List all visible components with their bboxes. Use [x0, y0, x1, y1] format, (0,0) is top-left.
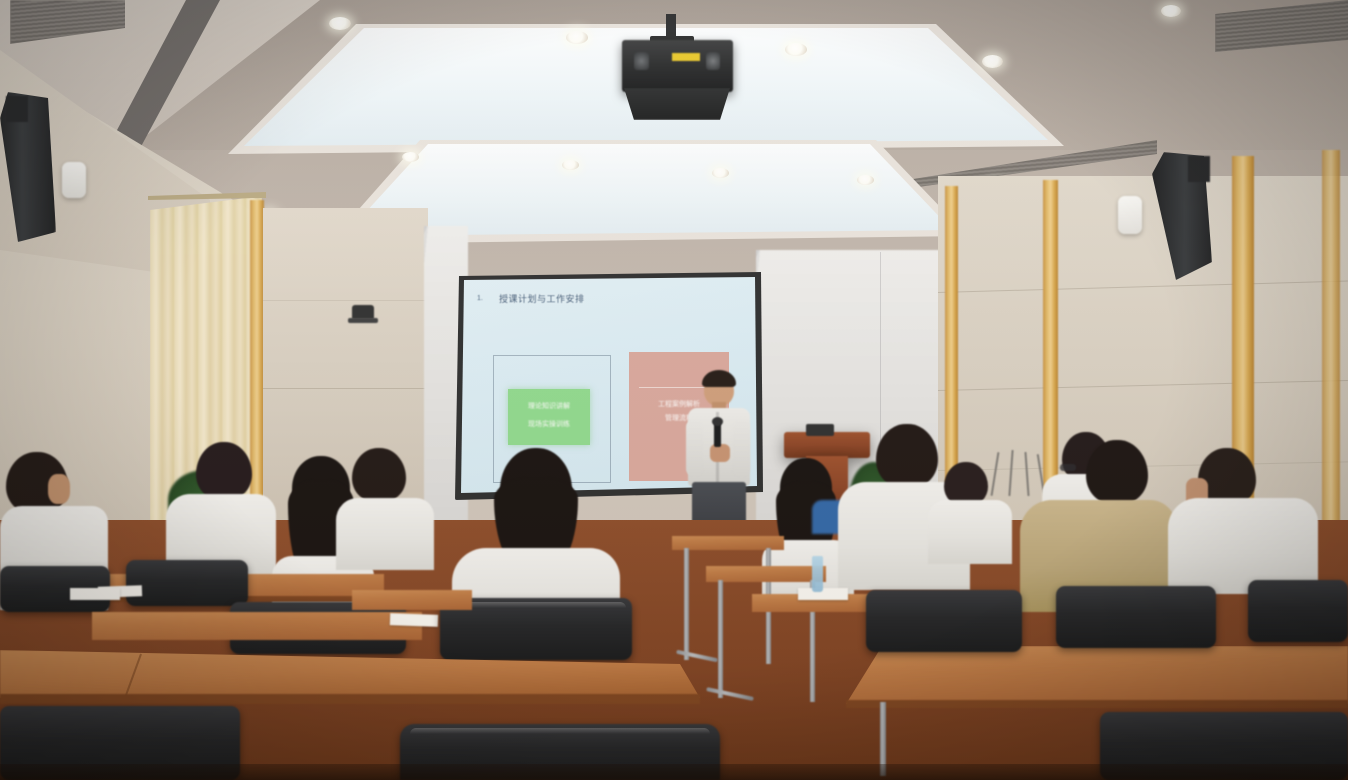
chair-center-front-highlight [446, 602, 626, 608]
downlight-9 [857, 175, 874, 185]
desk-right-row [846, 646, 1348, 704]
chair-r1-2[interactable] [126, 560, 248, 606]
slide-green-text-line2: 现场实操训练 [508, 419, 590, 430]
conference-room-photo: 1. 授课计划与工作安排 理论知识讲解 现场实操训练 工程案例解析 管理流程 [0, 0, 1348, 780]
downlight-7 [562, 160, 579, 170]
wall-sensor-left [62, 162, 86, 198]
desk-center-left [352, 590, 472, 610]
projector-label [672, 53, 700, 61]
chair-foreground-center-highlight [410, 728, 710, 734]
desk-right-row-edge [846, 700, 1348, 708]
wall-camera-icon [352, 305, 374, 319]
presenter-arm-right [733, 420, 750, 476]
presenter-arm-left [686, 420, 703, 476]
downlight-2 [566, 31, 588, 44]
person-right-1-head [876, 424, 938, 488]
person-back-4-head [352, 448, 406, 502]
chair-right-1[interactable] [866, 590, 1022, 652]
water-bottle[interactable] [812, 556, 823, 592]
desk-mid-2 [706, 566, 826, 582]
desk-foreground-left-edge [0, 694, 700, 704]
paper-3 [70, 588, 120, 600]
wall-camera-bracket [348, 318, 378, 323]
downlight-6 [402, 152, 419, 162]
projector-lens-left [634, 52, 649, 70]
person-right-2-torso [928, 500, 1012, 564]
downlight-3 [785, 43, 807, 56]
slide-green-box [508, 389, 590, 445]
downlight-1 [329, 17, 351, 30]
slide-title: 授课计划与工作安排 [499, 292, 585, 305]
light-panel-2 [336, 144, 960, 238]
projector-lower-housing [620, 88, 734, 120]
wall-seam-left-2 [263, 300, 428, 301]
paper-2 [390, 613, 438, 627]
podium-device [806, 424, 834, 436]
person-right-3-glasses [1060, 464, 1076, 471]
foreground-shadow-band [0, 764, 1348, 780]
wall-speaker-left-bracket [6, 96, 28, 122]
downlight-8 [712, 168, 729, 178]
projector-lens-right [706, 52, 720, 70]
wall-sensor-right [1118, 196, 1142, 234]
wall-speaker-right-bracket [1188, 156, 1210, 182]
chair-right-3[interactable] [1248, 580, 1348, 642]
wall-seam-left-1 [263, 388, 428, 389]
desk-row2 [92, 612, 422, 640]
person-tan-head [1086, 440, 1148, 504]
slide-title-marker: 1. [477, 295, 483, 302]
pillar-right-4 [1322, 150, 1340, 570]
person-back-4-torso [336, 498, 434, 570]
microphone-head [712, 417, 723, 426]
downlight-4 [982, 55, 1003, 68]
desk-mid-2-leg-a [718, 580, 723, 698]
person-back-2-head [196, 442, 252, 500]
person-back-1-face [48, 474, 70, 504]
chair-right-2[interactable] [1056, 586, 1216, 648]
desk-mid-1-leg-a [684, 548, 689, 660]
paper-mid-1 [798, 588, 848, 600]
slide-green-text-line1: 理论知识讲解 [508, 401, 590, 412]
downlight-5 [1161, 5, 1181, 17]
pillar-left-1 [250, 200, 264, 518]
